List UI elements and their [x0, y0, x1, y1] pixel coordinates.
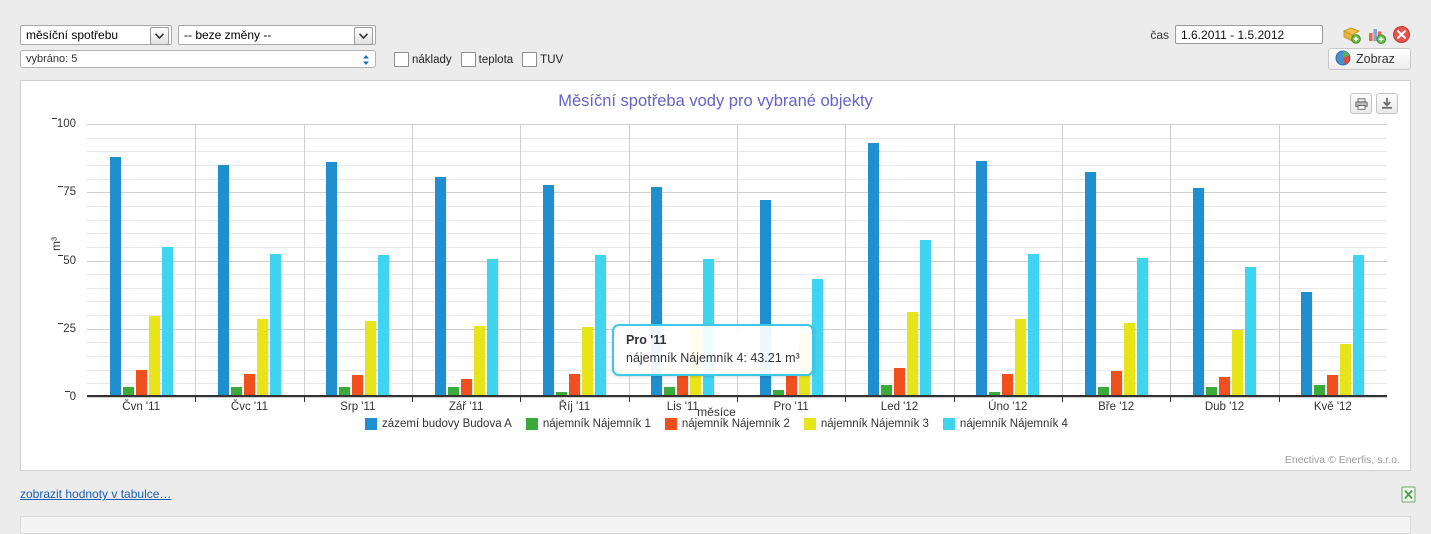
checkbox-label: TUV — [540, 54, 563, 66]
bars — [845, 124, 953, 397]
objects-multiselect-value: vybráno: 5 — [26, 53, 77, 65]
y-axis-tick-label: 50 — [63, 255, 76, 267]
legend-label: nájemník Nájemník 4 — [960, 418, 1068, 430]
change-select[interactable]: -- beze změny -- — [178, 25, 376, 45]
legend-label: nájemník Nájemník 2 — [682, 418, 790, 430]
bar[interactable] — [162, 247, 173, 397]
checkbox-teplota[interactable]: teplota — [461, 52, 514, 67]
y-axis-tick-label: 25 — [63, 323, 76, 335]
bar[interactable] — [1219, 377, 1230, 397]
checkbox-tuv[interactable]: TUV — [522, 52, 563, 67]
app-root: měsíční spotřebu -- beze změny -- vybrán… — [0, 0, 1431, 534]
legend-label: zázemí budovy Budova A — [382, 418, 512, 430]
bar[interactable] — [907, 312, 918, 397]
bar-group: Zář '11 — [412, 124, 520, 397]
bar-group: Čvc '11 — [195, 124, 303, 397]
chevron-down-icon[interactable] — [150, 27, 169, 45]
bar[interactable] — [352, 375, 363, 397]
bar[interactable] — [1193, 188, 1204, 397]
excel-export-icon[interactable] — [1401, 486, 1417, 503]
x-axis-tick-label: Lis '11 — [629, 401, 737, 413]
bar[interactable] — [976, 161, 987, 397]
x-axis-tick-label: Led '12 — [845, 401, 953, 413]
chevron-down-icon[interactable] — [354, 27, 373, 45]
bar[interactable] — [244, 374, 255, 397]
show-button-label: Zobraz — [1356, 52, 1395, 66]
bottom-strip — [20, 516, 1411, 534]
x-axis-tick-mark — [845, 397, 846, 402]
bar[interactable] — [1002, 374, 1013, 397]
add-report-icon[interactable] — [1342, 25, 1361, 44]
x-axis-line — [87, 395, 1387, 397]
bar-group: Dub '12 — [1170, 124, 1278, 397]
legend-label: nájemník Nájemník 1 — [543, 418, 651, 430]
bar[interactable] — [435, 177, 446, 397]
time-range-input[interactable]: 1.6.2011 - 1.5.2012 — [1175, 25, 1323, 44]
change-select-value: -- beze změny -- — [184, 26, 271, 44]
bar[interactable] — [543, 185, 554, 397]
legend-swatch — [365, 418, 377, 430]
show-table-link[interactable]: zobrazit hodnoty v tabulce… — [20, 487, 171, 501]
bars — [304, 124, 412, 397]
x-axis-tick-mark — [1279, 397, 1280, 402]
toolbar-icon-row — [1342, 25, 1411, 44]
x-axis-tick-label: Pro '11 — [737, 401, 845, 413]
time-range-control: čas 1.6.2011 - 1.5.2012 — [1150, 25, 1323, 44]
bar[interactable] — [894, 368, 905, 397]
x-axis-tick-mark — [304, 397, 305, 402]
add-chart-icon[interactable] — [1367, 25, 1386, 44]
print-icon[interactable] — [1350, 93, 1372, 114]
bar[interactable] — [868, 143, 879, 397]
x-axis-tick-mark — [629, 397, 630, 402]
bars — [1062, 124, 1170, 397]
y-axis-tick-label: 0 — [70, 391, 76, 403]
close-icon[interactable] — [1392, 25, 1411, 44]
y-axis-tick-mark — [65, 391, 70, 392]
bar[interactable] — [595, 255, 606, 397]
chart-tooltip: Pro '11 nájemník Nájemník 4: 43.21 m³ — [612, 324, 814, 376]
checkbox-box[interactable] — [461, 52, 476, 67]
x-axis-tick-label: Zář '11 — [412, 401, 520, 413]
y-axis-tick-label: 100 — [57, 118, 76, 130]
bar-group: Kvě '12 — [1279, 124, 1387, 397]
option-checkboxes: náklady teplota TUV — [394, 52, 563, 67]
checkbox-box[interactable] — [522, 52, 537, 67]
checkbox-label: teplota — [479, 54, 514, 66]
chart-title: Měsíční spotřeba vody pro vybrané objekt… — [21, 92, 1410, 111]
bar[interactable] — [1028, 254, 1039, 397]
bar[interactable] — [582, 327, 593, 397]
x-axis-tick-mark — [954, 397, 955, 402]
bar[interactable] — [786, 375, 797, 397]
y-axis-tick-label: 75 — [63, 186, 76, 198]
pie-chart-icon — [1335, 50, 1351, 69]
bar[interactable] — [1245, 267, 1256, 397]
x-axis-tick-label: Říj '11 — [520, 401, 628, 413]
chart-tool-buttons — [1350, 93, 1398, 114]
toolbar: měsíční spotřebu -- beze změny -- vybrán… — [0, 0, 1431, 76]
bar[interactable] — [136, 370, 147, 397]
legend-item[interactable]: zázemí budovy Budova A — [365, 418, 512, 430]
bar[interactable] — [1232, 330, 1243, 397]
bar[interactable] — [1111, 371, 1122, 397]
chart-panel: Měsíční spotřeba vody pro vybrané objekt… — [20, 80, 1411, 471]
x-axis-tick-label: Čvc '11 — [195, 401, 303, 413]
x-axis-tick-label: Srp '11 — [304, 401, 412, 413]
bars — [1170, 124, 1278, 397]
metric-select-value: měsíční spotřebu — [26, 26, 118, 44]
x-axis-tick-mark — [1062, 397, 1063, 402]
x-axis-tick-label: Bře '12 — [1062, 401, 1170, 413]
bar[interactable] — [474, 326, 485, 397]
bar[interactable] — [920, 240, 931, 397]
legend-item[interactable]: nájemník Nájemník 3 — [804, 418, 929, 430]
panel-credit: Enectiva © Enerfis, s.r.o. — [1285, 454, 1400, 466]
bar[interactable] — [1353, 255, 1364, 397]
bar[interactable] — [1327, 375, 1338, 397]
legend-label: nájemník Nájemník 3 — [821, 418, 929, 430]
bar[interactable] — [378, 255, 389, 397]
bar[interactable] — [110, 157, 121, 397]
bar[interactable] — [326, 162, 337, 397]
objects-multiselect[interactable]: vybráno: 5 — [20, 50, 376, 68]
checkbox-box[interactable] — [394, 52, 409, 67]
bar-group: Čvn '11 — [87, 124, 195, 397]
legend-item[interactable]: nájemník Nájemník 1 — [526, 418, 651, 430]
bar[interactable] — [149, 316, 160, 397]
bars — [1279, 124, 1387, 397]
legend-item[interactable]: nájemník Nájemník 2 — [665, 418, 790, 430]
bar[interactable] — [218, 165, 229, 397]
y-axis-tick-mark — [58, 186, 63, 187]
under-panel-bar — [20, 472, 1411, 506]
metric-select[interactable]: měsíční spotřebu — [20, 25, 172, 45]
y-axis-tick-mark — [52, 118, 57, 119]
x-axis-tick-label: Čvn '11 — [87, 401, 195, 413]
legend-swatch — [665, 418, 677, 430]
x-axis-tick-mark — [1170, 397, 1171, 402]
y-axis-label: m³ — [49, 237, 63, 251]
bar[interactable] — [365, 321, 376, 397]
show-button[interactable]: Zobraz — [1328, 48, 1411, 70]
legend-swatch — [526, 418, 538, 430]
bar[interactable] — [1124, 323, 1135, 397]
download-icon[interactable] — [1376, 93, 1398, 114]
x-axis-tick-label: Kvě '12 — [1279, 401, 1387, 413]
time-range-value: 1.6.2011 - 1.5.2012 — [1181, 28, 1284, 42]
bar[interactable] — [270, 254, 281, 397]
chart-legend: zázemí budovy Budova Anájemník Nájemník … — [21, 418, 1412, 430]
bar[interactable] — [487, 259, 498, 397]
bar[interactable] — [1340, 344, 1351, 397]
time-label: čas — [1150, 28, 1169, 42]
tooltip-value: nájemník Nájemník 4: 43.21 m³ — [626, 351, 800, 365]
legend-item[interactable]: nájemník Nájemník 4 — [943, 418, 1068, 430]
x-axis-tick-mark — [412, 397, 413, 402]
x-axis-tick-label: Úno '12 — [954, 401, 1062, 413]
y-axis-tick-mark — [58, 255, 63, 256]
checkbox-label: náklady — [412, 54, 452, 66]
bar-group: Bře '12 — [1062, 124, 1170, 397]
x-axis-tick-mark — [520, 397, 521, 402]
bar[interactable] — [1301, 292, 1312, 397]
bar-group: Led '12 — [845, 124, 953, 397]
bar[interactable] — [1015, 319, 1026, 397]
bars — [195, 124, 303, 397]
legend-swatch — [943, 418, 955, 430]
y-axis-tick-mark — [58, 323, 63, 324]
x-axis-tick-mark — [737, 397, 738, 402]
bar[interactable] — [257, 319, 268, 397]
bars — [412, 124, 520, 397]
bars — [87, 124, 195, 397]
bars — [954, 124, 1062, 397]
tooltip-title: Pro '11 — [626, 333, 800, 347]
bar[interactable] — [1137, 258, 1148, 397]
x-axis-tick-mark — [195, 397, 196, 402]
bar[interactable] — [1085, 172, 1096, 397]
bar-group: Srp '11 — [304, 124, 412, 397]
legend-swatch — [804, 418, 816, 430]
up-down-arrows-icon[interactable] — [362, 54, 370, 66]
bar[interactable] — [569, 374, 580, 397]
checkbox-naklady[interactable]: náklady — [394, 52, 452, 67]
bar-group: Úno '12 — [954, 124, 1062, 397]
x-axis-tick-label: Dub '12 — [1170, 401, 1278, 413]
bar[interactable] — [677, 374, 688, 397]
